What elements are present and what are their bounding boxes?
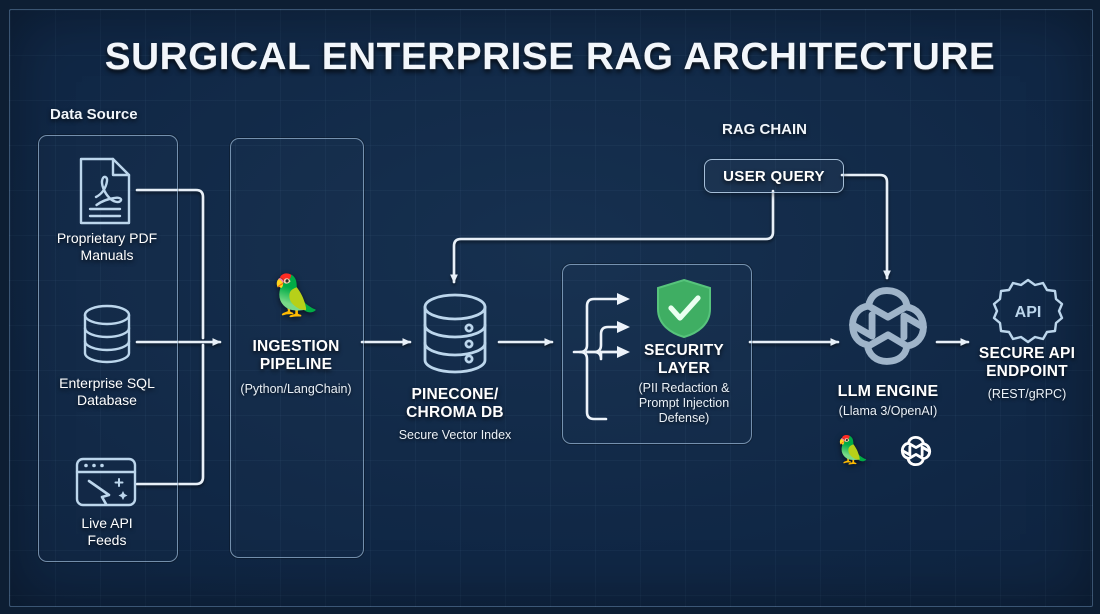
browser-api-icon (73, 455, 139, 509)
llm-engine-subtitle: (Llama 3/OpenAI) (806, 404, 970, 419)
api-rosette-icon: API (993, 278, 1063, 342)
ingestion-pipeline-title: INGESTION PIPELINE (226, 338, 366, 375)
llm-parrot-badge: 🦜 (836, 434, 870, 466)
line-userquery-to-llm (842, 175, 887, 278)
shield-check-icon (653, 277, 715, 339)
security-layer-title: SECURITY LAYER (608, 342, 760, 379)
source-label-liveapi: Live API Feeds (24, 515, 190, 549)
endpoint-title: SECURE API ENDPOINT (952, 345, 1100, 382)
diagram-canvas: SURGICAL ENTERPRISE RAG ARCHITECTURE Dat… (0, 0, 1100, 614)
source-label-sql: Enterprise SQL Database (24, 375, 190, 409)
api-badge-text: API (1015, 304, 1042, 321)
user-query-label: USER QUERY (723, 168, 825, 185)
user-query-pill[interactable]: USER QUERY (704, 159, 844, 193)
source-label-pdf: Proprietary PDF Manuals (24, 230, 190, 264)
openai-knot-icon (845, 283, 931, 369)
ingestion-pipeline-subtitle: (Python/LangChain) (220, 382, 372, 397)
endpoint-subtitle: (REST/gRPC) (946, 387, 1100, 402)
fan-arrow-1 (617, 293, 630, 305)
pdf-document-icon (75, 155, 137, 227)
llm-engine-title: LLM ENGINE (812, 383, 964, 402)
database-cylinder-icon (80, 303, 134, 365)
security-layer-subtitle: (PII Redaction & Prompt Injection Defens… (600, 381, 768, 426)
vector-db-title: PINECONE/ CHROMA DB (378, 386, 532, 423)
vector-db-subtitle: Secure Vector Index (372, 428, 538, 443)
parrot-emoji: 🦜 (230, 272, 362, 319)
openai-logo-icon (899, 434, 933, 468)
fan-arrow-2 (617, 321, 630, 333)
vector-database-icon (419, 292, 491, 376)
